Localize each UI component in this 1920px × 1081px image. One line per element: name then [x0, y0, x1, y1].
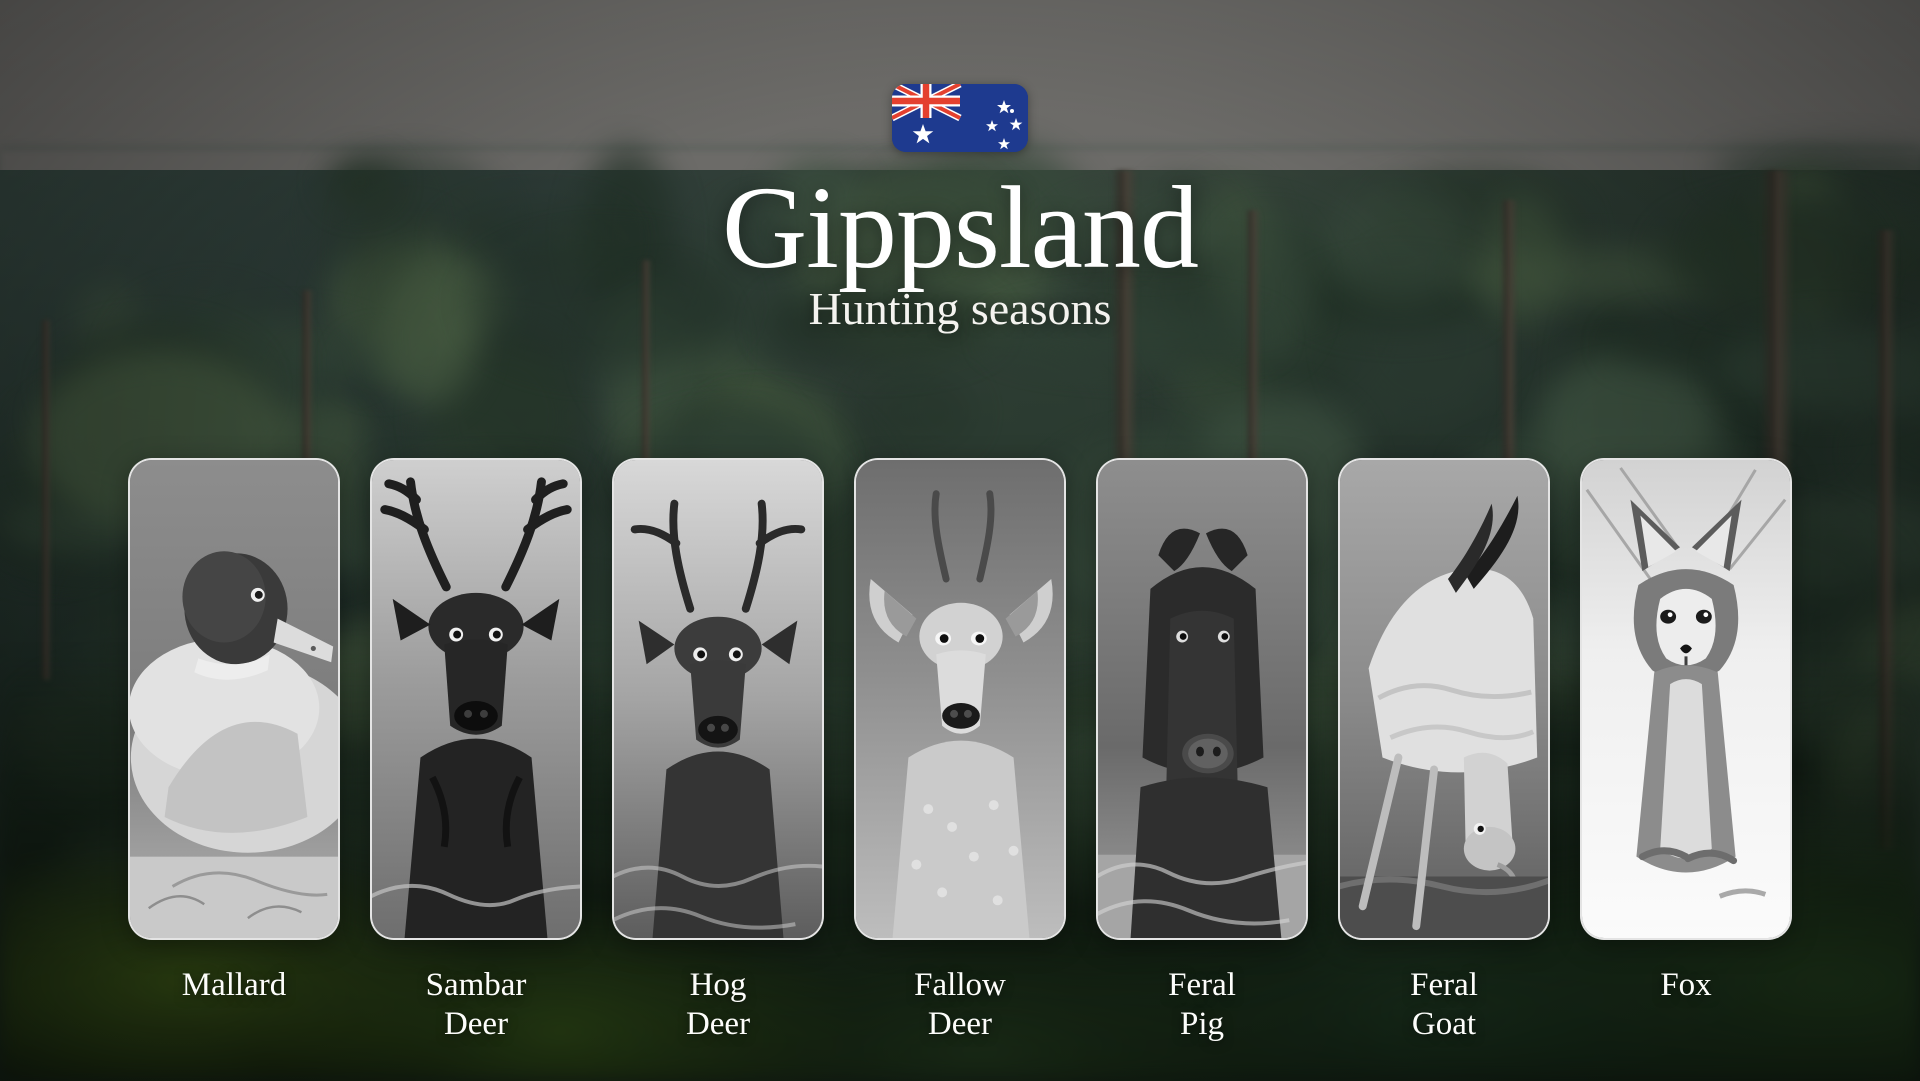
animal-photo-frame-fox[interactable] [1580, 458, 1792, 940]
animal-photo-frame-feral-goat[interactable] [1338, 458, 1550, 940]
animal-card-feral-goat[interactable]: Feral Goat [1338, 458, 1550, 1044]
page-title: Gippsland [0, 168, 1920, 288]
page-subtitle: Hunting seasons [0, 284, 1920, 335]
page-header: Gippsland Hunting seasons [0, 0, 1920, 335]
feral-pig-photo [1098, 460, 1306, 938]
animal-label-feral-goat: Feral Goat [1410, 966, 1478, 1044]
feral-goat-photo [1340, 460, 1548, 938]
animal-card-hog-deer[interactable]: Hog Deer [612, 458, 824, 1044]
animal-photo-frame-mallard[interactable] [128, 458, 340, 940]
animal-card-fallow-deer[interactable]: Fallow Deer [854, 458, 1066, 1044]
animal-label-fallow-deer: Fallow Deer [914, 966, 1006, 1044]
animal-label-mallard: Mallard [182, 966, 286, 1005]
fallow-deer-photo [856, 460, 1064, 938]
animal-photo-frame-feral-pig[interactable] [1096, 458, 1308, 940]
animal-card-row: Mallard Sambar Deer [0, 458, 1920, 1044]
animal-photo-frame-fallow-deer[interactable] [854, 458, 1066, 940]
sambar-deer-photo [372, 460, 580, 938]
animal-label-feral-pig: Feral Pig [1168, 966, 1236, 1044]
hog-deer-photo [614, 460, 822, 938]
red-fox-photo [1582, 460, 1790, 938]
animal-label-hog-deer: Hog Deer [686, 966, 750, 1044]
animal-photo-frame-sambar-deer[interactable] [370, 458, 582, 940]
animal-card-sambar-deer[interactable]: Sambar Deer [370, 458, 582, 1044]
mallard-duck-photo [130, 460, 338, 938]
animal-card-mallard[interactable]: Mallard [128, 458, 340, 1005]
animal-label-sambar-deer: Sambar Deer [426, 966, 527, 1044]
animal-photo-frame-hog-deer[interactable] [612, 458, 824, 940]
animal-label-fox: Fox [1660, 966, 1711, 1005]
animal-card-feral-pig[interactable]: Feral Pig [1096, 458, 1308, 1044]
australian-flag-icon [892, 84, 1028, 152]
animal-card-fox[interactable]: Fox [1580, 458, 1792, 1005]
